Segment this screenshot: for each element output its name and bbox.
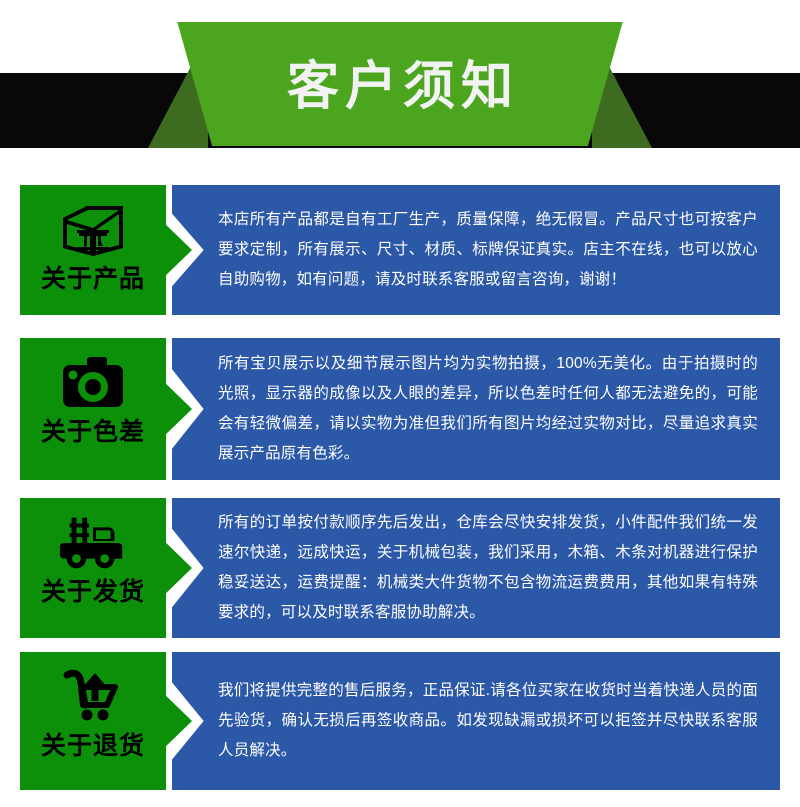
section-badge-product: 关于产品 xyxy=(20,185,166,315)
section-body-product: 本店所有产品都是自有工厂生产，质量保障，绝无假冒。产品尺寸也可按客户要求定制，所… xyxy=(172,185,780,315)
info-section-shipping: 关于发货 所有的订单按付款顺序先后发出，仓库会尽快安排发货，小件配件我们统一发速… xyxy=(0,498,800,653)
section-text: 我们将提供完整的售后服务，正品保证.请各位买家在收货时当着快递人员的面先验货，确… xyxy=(172,676,780,767)
section-badge-returns: 关于退货 xyxy=(20,652,166,790)
info-section-returns: 关于退货 我们将提供完整的售后服务，正品保证.请各位买家在收货时当着快递人员的面… xyxy=(0,652,800,807)
package-box-icon xyxy=(56,199,130,261)
section-body-shipping: 所有的订单按付款顺序先后发出，仓库会尽快安排发货，小件配件我们统一发速尔快递，远… xyxy=(172,498,780,638)
section-label: 关于产品 xyxy=(41,267,145,292)
section-text: 本店所有产品都是自有工厂生产，质量保障，绝无假冒。产品尺寸也可按客户要求定制，所… xyxy=(172,205,780,296)
section-label: 关于退货 xyxy=(41,734,145,759)
section-label: 关于色差 xyxy=(41,420,145,445)
section-body-color: 所有宝贝展示以及细节展示图片均为实物拍摄，100%无美化。由于拍摄时的光照，显示… xyxy=(172,338,780,480)
section-text: 所有宝贝展示以及细节展示图片均为实物拍摄，100%无美化。由于拍摄时的光照，显示… xyxy=(172,349,780,470)
header-banner: 客户须知 xyxy=(0,0,800,165)
return-cart-icon xyxy=(56,666,130,728)
forklift-icon xyxy=(56,512,130,574)
section-text: 所有的订单按付款顺序先后发出，仓库会尽快安排发货，小件配件我们统一发速尔快递，远… xyxy=(172,508,780,629)
page-title: 客户须知 xyxy=(281,61,519,113)
camera-icon xyxy=(56,352,130,414)
section-badge-shipping: 关于发货 xyxy=(20,498,166,638)
section-body-returns: 我们将提供完整的售后服务，正品保证.请各位买家在收货时当着快递人员的面先验货，确… xyxy=(172,652,780,790)
banner-ribbon: 客户须知 xyxy=(168,22,632,146)
info-section-color: 关于色差 所有宝贝展示以及细节展示图片均为实物拍摄，100%无美化。由于拍摄时的… xyxy=(0,338,800,493)
section-badge-color: 关于色差 xyxy=(20,338,166,480)
info-section-product: 关于产品 本店所有产品都是自有工厂生产，质量保障，绝无假冒。产品尺寸也可按客户要… xyxy=(0,185,800,340)
section-label: 关于发货 xyxy=(41,580,145,605)
